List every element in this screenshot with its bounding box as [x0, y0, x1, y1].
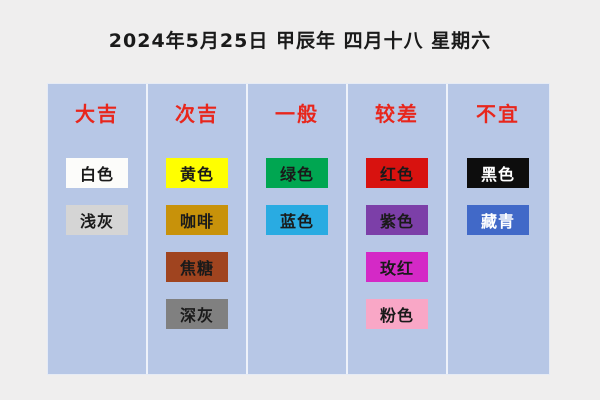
column-daji: 大吉 白色 浅灰: [48, 84, 148, 374]
color-swatch[interactable]: 黄色: [166, 158, 228, 188]
color-swatch[interactable]: 咖啡: [166, 205, 228, 235]
lucky-color-chart-page: 2024年5月25日 甲辰年 四月十八 星期六 大吉 白色 浅灰 次吉 黄色 咖…: [0, 0, 600, 400]
color-swatch[interactable]: 粉色: [366, 299, 428, 329]
swatch-stack: 黑色 藏青: [448, 158, 548, 252]
color-swatch[interactable]: 绿色: [266, 158, 328, 188]
color-swatch[interactable]: 紫色: [366, 205, 428, 235]
swatch-stack: 黄色 咖啡 焦糖 深灰: [148, 158, 246, 346]
color-swatch[interactable]: 蓝色: [266, 205, 328, 235]
column-title: 次吉: [175, 104, 219, 124]
column-title: 较差: [375, 104, 419, 124]
color-board: 大吉 白色 浅灰 次吉 黄色 咖啡 焦糖 深灰 一般 绿色 蓝色 较差: [48, 84, 549, 374]
color-swatch[interactable]: 深灰: [166, 299, 228, 329]
color-swatch[interactable]: 焦糖: [166, 252, 228, 282]
swatch-stack: 白色 浅灰: [48, 158, 146, 252]
column-title: 一般: [275, 104, 319, 124]
column-ciji: 次吉 黄色 咖啡 焦糖 深灰: [148, 84, 248, 374]
column-title: 大吉: [75, 104, 119, 124]
column-jiaocha: 较差 红色 紫色 玫红 粉色: [348, 84, 448, 374]
color-swatch[interactable]: 红色: [366, 158, 428, 188]
column-yiban: 一般 绿色 蓝色: [248, 84, 348, 374]
column-title: 不宜: [476, 104, 520, 124]
color-swatch[interactable]: 玫红: [366, 252, 428, 282]
swatch-stack: 红色 紫色 玫红 粉色: [348, 158, 446, 346]
color-swatch[interactable]: 浅灰: [66, 205, 128, 235]
date-header: 2024年5月25日 甲辰年 四月十八 星期六: [0, 26, 600, 53]
color-swatch[interactable]: 藏青: [467, 205, 529, 235]
color-swatch[interactable]: 黑色: [467, 158, 529, 188]
color-swatch[interactable]: 白色: [66, 158, 128, 188]
column-buyi: 不宜 黑色 藏青: [448, 84, 548, 374]
swatch-stack: 绿色 蓝色: [248, 158, 346, 252]
